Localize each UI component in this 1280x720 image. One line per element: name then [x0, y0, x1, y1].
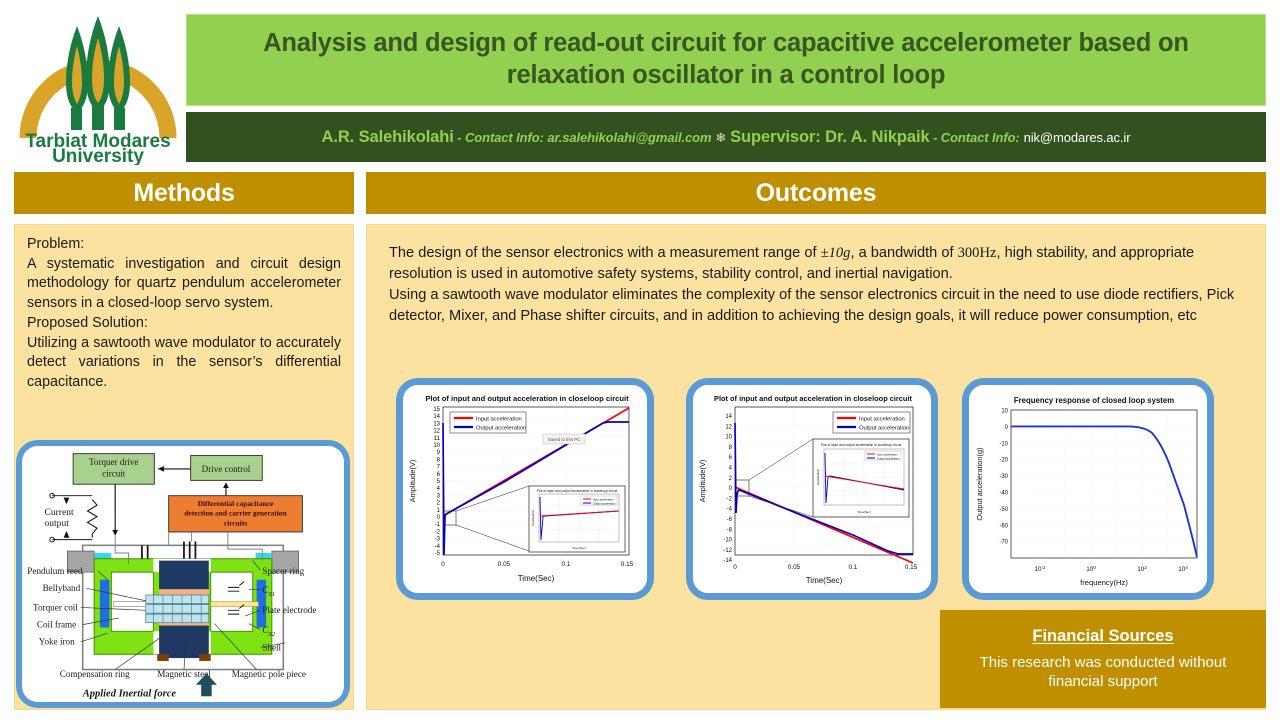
diagram-label-current-output: output	[44, 518, 69, 529]
diagram-label-plate-electrode: Plate electrode	[262, 605, 316, 615]
section-header-methods: Methods	[14, 172, 354, 214]
logo-graphic: Tarbiat Modares University	[14, 10, 182, 165]
methods-body: Problem: A systematic investigation and …	[15, 225, 353, 393]
svg-text:Input acceleration: Input acceleration	[877, 452, 898, 456]
svg-text:-2: -2	[727, 496, 733, 502]
svg-text:-6: -6	[727, 517, 733, 523]
chart1-ylabel: Amplitude(V)	[408, 460, 417, 503]
diagram-block-detection: circuits	[224, 518, 248, 527]
problem-text: A systematic investigation and circuit d…	[27, 255, 341, 314]
svg-text:-4: -4	[435, 544, 441, 550]
chart-frequency-response: Frequency response of closed loop system…	[969, 385, 1207, 593]
svg-text:Input acceleration: Input acceleration	[593, 497, 614, 501]
problem-label: Problem:	[27, 235, 341, 255]
diagram-label-bellyband: Bellyband	[43, 583, 81, 593]
svg-text:10: 10	[725, 435, 732, 441]
poster-root: Tarbiat Modares University Analysis and …	[0, 0, 1280, 720]
svg-text:11: 11	[434, 436, 441, 442]
methods-title: Methods	[133, 179, 234, 208]
chart1-legend-input: Input acceleration	[476, 416, 522, 422]
svg-text:-3: -3	[435, 537, 441, 543]
svg-text:-10: -10	[999, 441, 1008, 447]
author-name: A.R. Salehikolahi	[322, 128, 454, 146]
svg-text:-20: -20	[999, 458, 1008, 464]
svg-text:0.15: 0.15	[905, 564, 918, 571]
chart2-title: Plot of input and output acceleration in…	[714, 394, 912, 403]
outcomes-paragraph-1: The design of the sensor electronics wit…	[389, 243, 1245, 285]
svg-text:-1: -1	[435, 522, 441, 528]
svg-text:-4: -4	[727, 507, 733, 513]
financial-sources-text: This research was conducted without fina…	[940, 653, 1266, 692]
chart2-inset-ylabel: Amplitude(V)	[816, 469, 820, 485]
chart1-inset-title: Plot of input and output acceleration in…	[537, 489, 618, 493]
supervisor-email[interactable]: nik@modares.ac.ir	[1024, 130, 1131, 145]
logo-line2: University	[52, 146, 144, 165]
chart2-inset-title: Plot of input and output acceleration in…	[821, 443, 902, 447]
financial-sources-box: Financial Sources This research was cond…	[940, 610, 1266, 708]
svg-text:15: 15	[433, 407, 440, 413]
outcomes-title: Outcomes	[756, 179, 877, 208]
author-email[interactable]: ar.salehikolahi@gmail.com	[547, 130, 711, 145]
supervisor-name: Supervisor: Dr. A. Nikpaik	[730, 128, 929, 146]
svg-text:12: 12	[725, 424, 732, 430]
university-logo: Tarbiat Modares University	[14, 10, 182, 165]
svg-text:Output acceleration: Output acceleration	[877, 456, 900, 460]
chart2-inset-xlabel: Time(Sec)	[857, 510, 871, 514]
saved-to-pc-badge: Saved to this PC	[548, 437, 581, 442]
diagram-label-coil-frame: Coil frame	[37, 619, 76, 629]
chart2-legend-input: Input acceleration	[859, 416, 905, 422]
svg-text:-70: -70	[999, 540, 1008, 546]
chart2-legend-output: Output acceleration	[859, 425, 909, 431]
measurement-range-value: ±10g	[821, 245, 851, 261]
svg-text:-50: -50	[999, 507, 1008, 513]
diagram-label-torquer-coil: Torquer coil	[33, 602, 78, 612]
svg-text:14: 14	[433, 414, 440, 420]
diagram-label-cs1-sub: S1	[268, 591, 275, 598]
chart3-title: Frequency response of closed loop system	[1014, 396, 1174, 405]
svg-text:0.15: 0.15	[621, 561, 634, 568]
chart2-ylabel: Amplitude(V)	[698, 460, 707, 503]
svg-text:13: 13	[433, 421, 440, 427]
svg-text:Output acceleration: Output acceleration	[593, 501, 616, 505]
snowflake-icon: ❄	[715, 130, 726, 145]
solution-text: Utilizing a sawtooth wave modulator to a…	[27, 334, 341, 393]
svg-text:-5: -5	[435, 551, 441, 557]
financial-sources-title: Financial Sources	[1032, 627, 1173, 646]
diagram-block-torquer: circuit	[102, 469, 126, 479]
diagram-block-drive-control: Drive control	[202, 464, 251, 474]
chart2-xlabel: Time(Sec)	[806, 576, 843, 585]
author-contact-label: - Contact Info:	[457, 130, 544, 145]
chart3-ylabel: Output acceleration(g)	[975, 447, 984, 520]
diagram-label-yoke-iron: Yoke iron	[39, 637, 75, 647]
svg-text:-60: -60	[999, 523, 1008, 529]
chart1-inset-xlabel: Time(Sec)	[572, 546, 586, 550]
chart-input-output-rising: Plot of input and output acceleration in…	[403, 385, 647, 593]
outcomes-paragraph-2: Using a sawtooth wave modulator eliminat…	[389, 285, 1245, 327]
svg-text:-40: -40	[999, 491, 1008, 497]
svg-text:0.05: 0.05	[788, 564, 801, 571]
svg-text:0: 0	[441, 561, 445, 568]
accelerometer-diagram-graphic: Torquer drive circuit Drive control Diff…	[22, 446, 344, 702]
svg-text:detection and carrier generati: detection and carrier generation	[184, 509, 287, 518]
chart1-legend-output: Output acceleration	[476, 425, 526, 431]
svg-text:10: 10	[1001, 409, 1008, 415]
chart-input-output-falling: Plot of input and output acceleration in…	[693, 385, 931, 593]
svg-text:Torquer drive: Torquer drive	[89, 457, 138, 467]
svg-text:-12: -12	[723, 548, 732, 554]
chart-card-frequency-response: Frequency response of closed loop system…	[962, 378, 1214, 600]
accelerometer-diagram: Torquer drive circuit Drive control Diff…	[22, 446, 344, 702]
svg-text:-14: -14	[723, 558, 732, 564]
svg-text:-2: -2	[435, 529, 441, 535]
diagram-label-cs2-sub: S2	[268, 631, 275, 638]
svg-text:0.1: 0.1	[562, 561, 571, 568]
supervisor-contact-label: - Contact Info:	[933, 130, 1020, 145]
svg-text:0.1: 0.1	[849, 564, 858, 571]
chart1-title: Plot of input and output acceleration in…	[425, 394, 629, 403]
diagram-label-compensation-ring: Compensation ring	[60, 669, 130, 679]
accelerometer-diagram-card: Torquer drive circuit Drive control Diff…	[16, 440, 350, 708]
svg-text:12: 12	[433, 429, 440, 435]
svg-text:0.05: 0.05	[498, 561, 511, 568]
chart1-xlabel: Time(Sec)	[518, 574, 555, 583]
svg-text:0: 0	[733, 564, 737, 571]
chart-card-input-output-falling: Plot of input and output acceleration in…	[686, 378, 938, 600]
bandwidth-value: 300Hz	[958, 245, 997, 261]
diagram-label-pendulum-reed: Pendulum reed	[27, 566, 83, 576]
svg-text:Differential capacitance: Differential capacitance	[198, 499, 274, 508]
svg-text:Current: Current	[44, 507, 74, 518]
svg-text:-8: -8	[727, 527, 733, 533]
author-banner: A.R. Salehikolahi - Contact Info: ar.sal…	[186, 112, 1266, 162]
chart3-xlabel: frequency(Hz)	[1080, 578, 1128, 587]
svg-text:-10: -10	[723, 538, 732, 544]
poster-title-banner: Analysis and design of read-out circuit …	[186, 14, 1266, 106]
diagram-label-spacer-ring: Spacer ring	[262, 566, 304, 576]
diagram-label-applied-force: Applied Inertial force	[82, 688, 177, 699]
diagram-label-magnetic-pole-piece: Magnetic pole piece	[232, 669, 306, 679]
chart-card-input-output-rising: Plot of input and output acceleration in…	[396, 378, 654, 600]
author-line: A.R. Salehikolahi - Contact Info: ar.sal…	[322, 128, 1131, 147]
chart1-inset-ylabel: Amplitude(V)	[531, 510, 535, 526]
poster-title: Analysis and design of read-out circuit …	[187, 28, 1265, 92]
svg-text:10: 10	[433, 443, 440, 449]
outcomes-body: The design of the sensor electronics wit…	[367, 225, 1265, 326]
svg-text:-30: -30	[999, 474, 1008, 480]
svg-text:14: 14	[725, 414, 732, 420]
section-header-outcomes: Outcomes	[366, 172, 1266, 214]
solution-label: Proposed Solution:	[27, 314, 341, 334]
